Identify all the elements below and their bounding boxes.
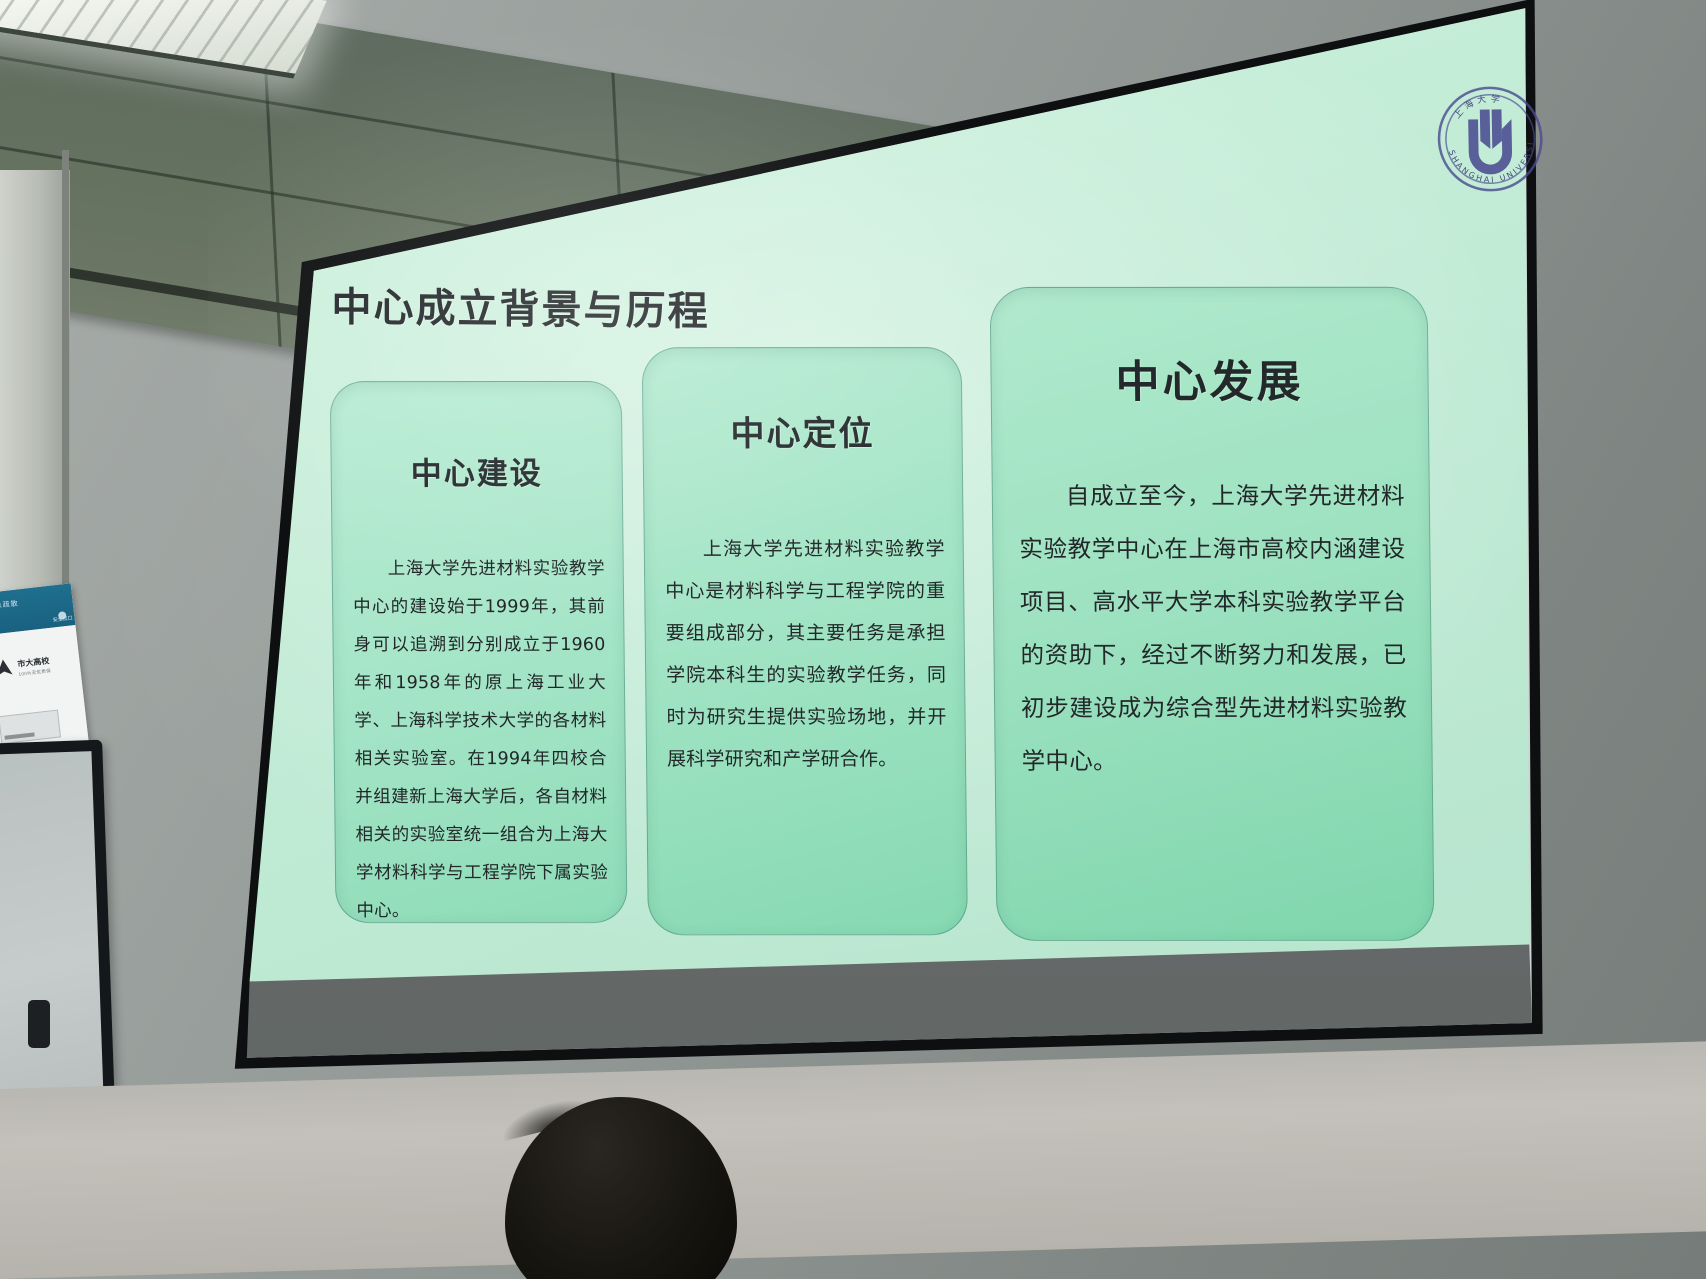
card-title: 中心建设 — [331, 448, 621, 493]
card-center-positioning[interactable]: 中心定位 上海大学先进材料实验教学中心是材料科学与工程学院的重要组成部分，其主要… — [642, 347, 968, 935]
sign-brand-subtext: 100%无忧质保 — [18, 668, 51, 678]
wall-column — [0, 170, 70, 640]
mountain-logo-icon — [0, 659, 13, 677]
card-body: 上海大学先进材料实验教学中心的建设始于1999年，其前身可以追溯到分别成立于19… — [353, 550, 609, 930]
classroom-scene: 应急疏散 安全出口 市大高校 100%无忧质保 中心成立背景与历程 — [0, 0, 1706, 1279]
sign-header-text: 应急疏散 — [0, 598, 19, 612]
card-title: 中心发展 — [991, 346, 1428, 410]
card-body: 上海大学先进材料实验教学中心是材料科学与工程学院的重要组成部分，其主要任务是承担… — [665, 528, 948, 780]
shanghai-university-seal-icon: 上海大学 SHANGHAI UNIVERSITY — [1430, 80, 1550, 199]
slide-content: 中心成立背景与历程 上海大学 — [312, 18, 1535, 1001]
sign-brand-text: 市大高校 — [17, 655, 50, 670]
wall-column-edge — [62, 150, 69, 650]
card-center-development[interactable]: 中心发展 自成立至今，上海大学先进材料实验教学中心在上海市高校内涵建设项目、高水… — [990, 287, 1435, 941]
board-mount-knob — [28, 1000, 50, 1048]
card-center-construction[interactable]: 中心建设 上海大学先进材料实验教学中心的建设始于1999年，其前身可以追溯到分别… — [330, 381, 628, 923]
sign-body: 市大高校 100%无忧质保 — [0, 625, 89, 753]
sign-badge-text: 安全出口 — [52, 614, 73, 623]
projection-screen: 中心成立背景与历程 上海大学 — [208, 0, 1548, 1084]
card-body: 自成立至今，上海大学先进材料实验教学中心在上海市高校内涵建设项目、高水平大学本科… — [1019, 470, 1408, 788]
page-title: 中心成立背景与历程 — [332, 275, 710, 337]
card-title: 中心定位 — [643, 406, 962, 455]
